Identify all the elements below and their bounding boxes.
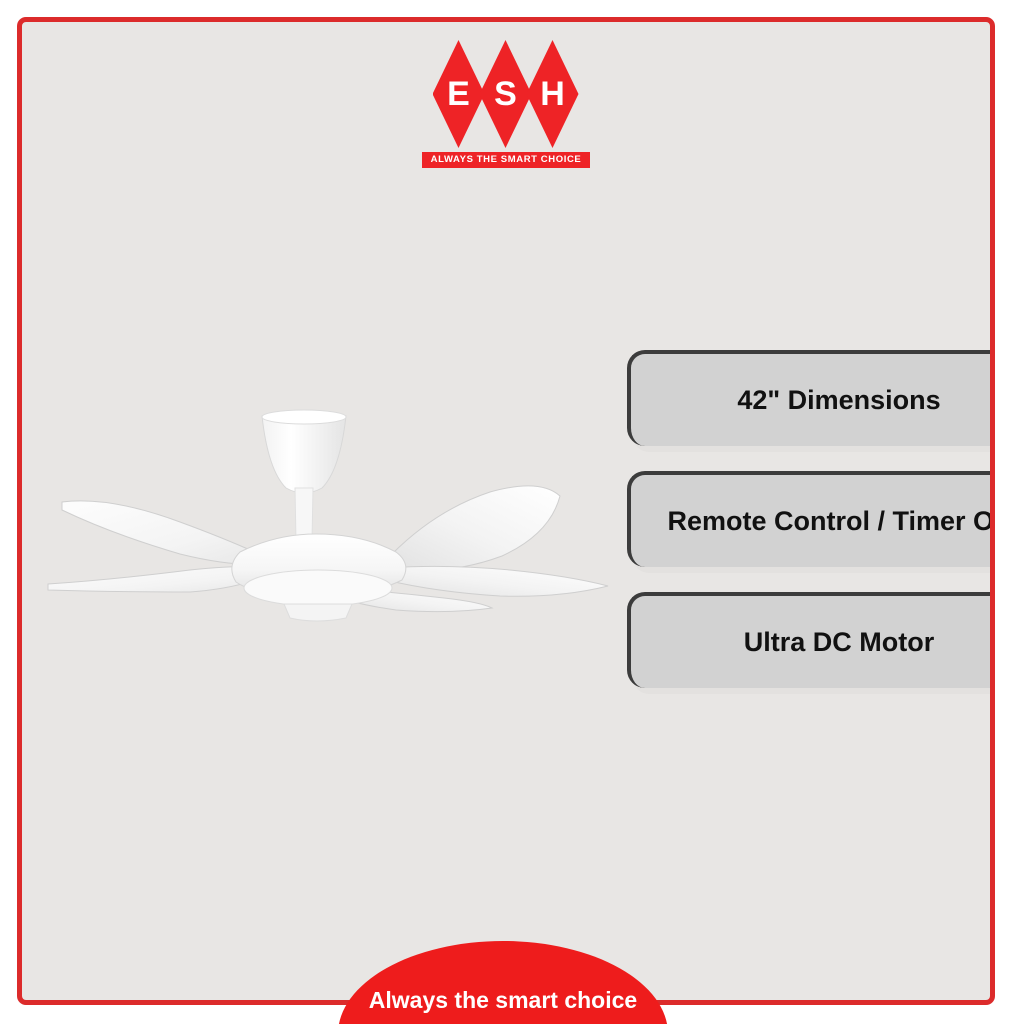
ceiling-fan-illustration (40, 392, 630, 642)
logo-letter-e: E (447, 77, 470, 111)
feature-label: 42" Dimensions (737, 385, 940, 416)
feature-pill-dimensions[interactable]: 42" Dimensions (627, 350, 995, 446)
feature-pill-remote-timer[interactable]: Remote Control / Timer On (627, 471, 995, 567)
logo-diamonds: E S H (433, 40, 580, 148)
feature-pill-body[interactable]: Ultra DC Motor (627, 592, 995, 688)
fan-blade-3 (392, 486, 560, 570)
feature-label: Ultra DC Motor (744, 627, 935, 658)
diamond-s-icon: S (480, 40, 532, 148)
fan-receiver-box (284, 604, 352, 621)
ceiling-fan-image (40, 392, 630, 642)
framed-card: E S H ALWAYS THE SMART CHOICE (17, 17, 995, 1005)
fan-blade-4 (386, 566, 608, 596)
feature-label: Remote Control / Timer On (667, 506, 995, 537)
diamond-h-icon: H (527, 40, 579, 148)
fan-hub-base (244, 570, 392, 606)
feature-pill-body[interactable]: 42" Dimensions (627, 350, 995, 446)
product-banner-canvas: E S H ALWAYS THE SMART CHOICE (0, 0, 1024, 1024)
logo-letter-s: S (494, 77, 517, 111)
logo-tagline-banner: ALWAYS THE SMART CHOICE (422, 152, 591, 168)
footer-tagline-text: Always the smart choice (338, 987, 668, 1014)
esh-logo: E S H ALWAYS THE SMART CHOICE (22, 40, 990, 168)
fan-canopy-top (262, 410, 346, 424)
feature-list: 42" Dimensions Remote Control / Timer On… (627, 350, 995, 713)
feature-pill-motor[interactable]: Ultra DC Motor (627, 592, 995, 688)
logo-letter-h: H (540, 77, 565, 111)
feature-pill-body[interactable]: Remote Control / Timer On (627, 471, 995, 567)
diamond-e-icon: E (433, 40, 485, 148)
